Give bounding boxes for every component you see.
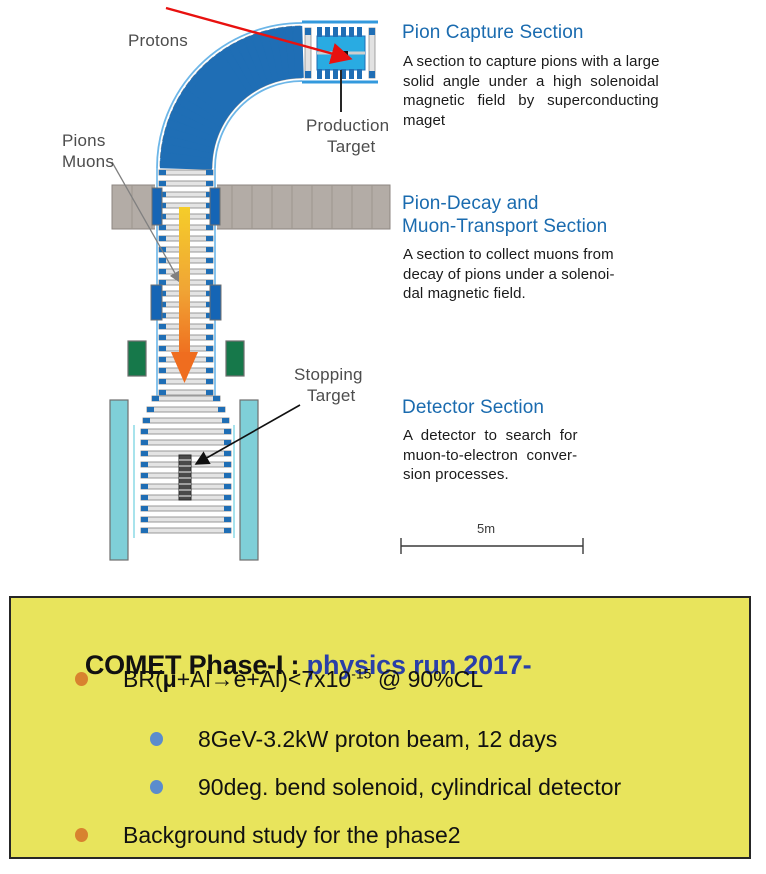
bullet-background-study-text: Background study for the phase2 bbox=[123, 822, 461, 848]
bullet-branching-ratio: BR(μ+Al→e+Al)<7x10-15 @ 90%CL bbox=[75, 666, 483, 692]
slide-root: Protons Pions Muons Production Target St… bbox=[0, 0, 766, 874]
muons-label: Muons bbox=[62, 151, 114, 172]
scale-bar bbox=[401, 538, 583, 554]
section-heading-pion-capture: Pion Capture Section bbox=[402, 21, 584, 44]
bullet-bend-solenoid-text: 90deg. bend solenoid, cylindrical detect… bbox=[198, 774, 621, 800]
summary-box: COMET Phase-I : physics run 2017- BR(μ+A… bbox=[9, 596, 751, 859]
comet-beamline-diagram: Protons Pions Muons Production Target St… bbox=[0, 0, 766, 580]
bullet-proton-beam: 8GeV-3.2kW proton beam, 12 days bbox=[150, 726, 557, 752]
section-heading-detector: Detector Section bbox=[402, 396, 544, 419]
section-body-pion-decay: A section to collect muons from decay of… bbox=[403, 245, 615, 304]
stopping-target-label: Stopping bbox=[294, 364, 363, 385]
section-heading-pion-decay: Pion-Decay and Muon-Transport Section bbox=[402, 192, 607, 238]
bullet-background-study: Background study for the phase2 bbox=[75, 822, 461, 848]
bullet-dot-blue bbox=[150, 732, 163, 746]
bullet-proton-beam-text: 8GeV-3.2kW proton beam, 12 days bbox=[198, 726, 557, 752]
production-target-label: Production bbox=[306, 115, 389, 136]
bullet-bend-solenoid: 90deg. bend solenoid, cylindrical detect… bbox=[150, 774, 621, 800]
bullet-dot-orange bbox=[75, 672, 88, 686]
bullet-dot-orange bbox=[75, 828, 88, 842]
scale-bar-label: 5m bbox=[477, 521, 495, 536]
bullet-dot-blue bbox=[150, 780, 163, 794]
section-body-detector: A detector to search for muon-to-electro… bbox=[403, 426, 578, 485]
stopping-target bbox=[179, 455, 191, 500]
transition-coils bbox=[143, 396, 229, 423]
bullet-branching-ratio-text: BR(μ+Al→e+Al)<7x10-15 @ 90%CL bbox=[123, 666, 483, 692]
stopping-target-label-line2: Target bbox=[307, 385, 355, 406]
section-body-pion-capture: A section to capture pions with a large … bbox=[403, 52, 660, 130]
production-target-label-line2: Target bbox=[327, 136, 375, 157]
pions-label: Pions bbox=[62, 130, 106, 151]
protons-label: Protons bbox=[128, 30, 188, 51]
